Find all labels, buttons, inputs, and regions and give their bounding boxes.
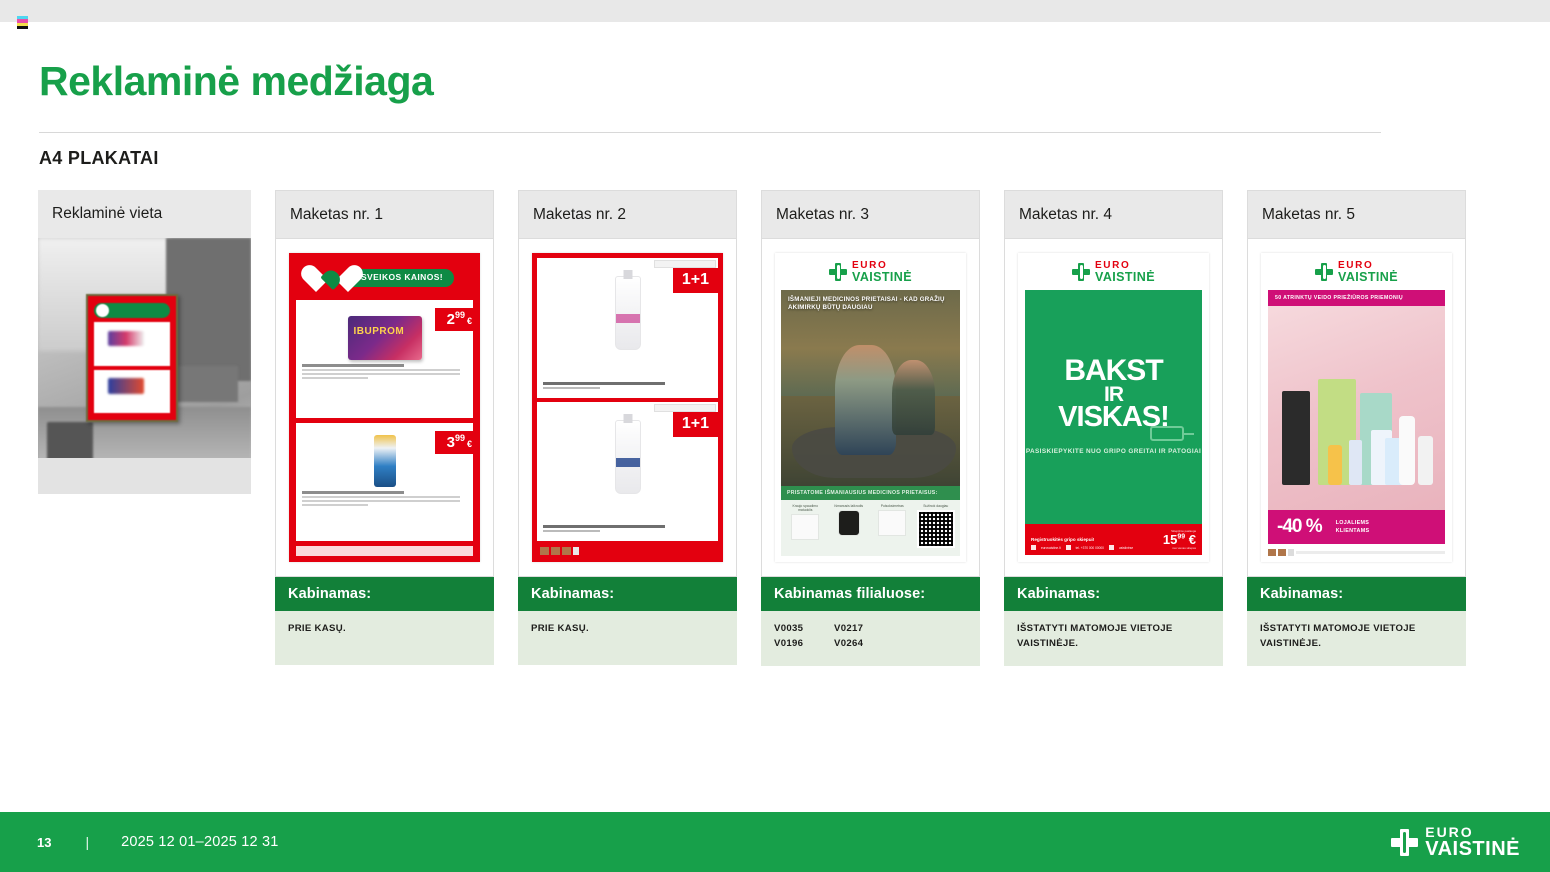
- column-maketas-5: Maketas nr. 5 EURO VAISTINĖ 50 ATRINKTŲ …: [1247, 190, 1466, 666]
- poster5-audience-line-2: KLIENTAMS: [1336, 527, 1370, 535]
- product-copy-3: [543, 382, 712, 391]
- tile-device-3: Pulsoksimetras: [872, 504, 913, 552]
- price-currency-4: €: [1189, 532, 1196, 547]
- column-maketas-1: Maketas nr. 1 SVEIKOS KAINOS! 299€: [275, 190, 494, 665]
- placement-photo: [38, 238, 251, 494]
- qr-code-icon: [917, 510, 955, 548]
- page-content: Reklaminė medžiaga A4 PLAKATAI Reklaminė…: [0, 22, 1550, 812]
- column-reklamine-vieta: Reklaminė vieta: [38, 190, 251, 494]
- tile-qr: Sužinok daugiau: [916, 504, 957, 552]
- column-maketas-4: Maketas nr. 4 EURO VAISTINĖ BAKST IR: [1004, 190, 1223, 666]
- column-header-reklamine-vieta: Reklaminė vieta: [38, 190, 251, 238]
- poster4-price: 1599 €: [1163, 533, 1196, 546]
- title-divider: [39, 132, 1381, 133]
- badge-one-plus-one-2: 1+1: [673, 412, 718, 437]
- poster-one-plus-one: 1+1 1+1: [532, 253, 723, 562]
- kabinamas-header-4: Kabinamas:: [1004, 577, 1223, 611]
- price-int-1: 2: [447, 311, 455, 328]
- section-title: A4 PLAKATAI: [39, 148, 159, 169]
- poster5-discount-bar: -40 % LOJALIEMS KLIENTAMS: [1268, 510, 1445, 544]
- euro-vaistine-logo-4: EURO VAISTINĖ: [1018, 253, 1209, 290]
- product-image-spray: [374, 435, 396, 487]
- poster-sveikos-kainos: SVEIKOS KAINOS! 299€ 399€: [289, 253, 480, 562]
- heart-icon: [315, 263, 349, 293]
- price-dec-1: 99: [455, 310, 465, 320]
- poster5-audience-line-1: LOJALIEMS: [1336, 519, 1370, 527]
- poster1-offer-2: 399€: [296, 423, 473, 541]
- kabinamas-body-3: V0035 V0217 V0196 V0264: [761, 611, 980, 666]
- cmyk-registration-bar-icon: [17, 16, 28, 29]
- posters-grid: Reklaminė vieta Maketas nr. 1 SVEI: [38, 190, 1466, 666]
- branch-code: V0217: [834, 621, 894, 636]
- contact-web: eurovaistine.lt: [1041, 546, 1061, 550]
- euro-vaistine-logo-5: EURO VAISTINĖ: [1261, 253, 1452, 290]
- poster-frame-2[interactable]: 1+1 1+1: [518, 238, 737, 577]
- kabinamas-header-2: Kabinamas:: [518, 577, 737, 611]
- column-header-maketas-2: Maketas nr. 2: [518, 190, 737, 238]
- poster-frame-5[interactable]: EURO VAISTINĖ 50 ATRINKTŲ VEIDO PRIEŽIŪR…: [1247, 238, 1466, 577]
- logo-vaistine-4: VAISTINĖ: [1095, 271, 1155, 284]
- tile-caption-3: Pulsoksimetras: [881, 504, 904, 508]
- page-footer: 13 | 2025 12 01–2025 12 31 EURO VAISTINĖ: [0, 812, 1550, 872]
- column-header-maketas-5: Maketas nr. 5: [1247, 190, 1466, 238]
- column-header-maketas-1: Maketas nr. 1: [275, 190, 494, 238]
- product-image-serum: [615, 276, 641, 350]
- store-icon: [1109, 545, 1114, 550]
- poster3-headline: IŠMANIEJI MEDICINOS PRIETAISAI - KAD GRA…: [788, 296, 950, 314]
- tile-device-1: Kraujo spaudimo matuoklis: [785, 504, 826, 552]
- price-currency-2: €: [467, 439, 472, 449]
- qr-caption: Sužinok daugiau: [923, 504, 948, 508]
- poster4-price-label: Skiepijimo paslauga: [1163, 529, 1196, 533]
- globe-icon: [1031, 545, 1036, 550]
- price-currency-1: €: [467, 316, 472, 326]
- poster-skincare-discount: EURO VAISTINĖ 50 ATRINKTŲ VEIDO PRIEŽIŪR…: [1261, 253, 1452, 562]
- column-header-maketas-3: Maketas nr. 3: [761, 190, 980, 238]
- footer-euro-vaistine-logo: EURO VAISTINĖ: [1391, 825, 1520, 859]
- placement-poster-thumbnail: [86, 294, 178, 422]
- phone-icon: [1066, 545, 1071, 550]
- branch-code-list: V0035 V0217 V0196 V0264: [774, 621, 894, 652]
- syringe-icon: [1150, 426, 1184, 441]
- logo-vaistine-3: VAISTINĖ: [852, 271, 912, 284]
- poster2-footer-strip: [537, 545, 718, 557]
- kabinamas-header-1: Kabinamas:: [275, 577, 494, 611]
- euro-vaistine-logo-3: EURO VAISTINĖ: [775, 253, 966, 290]
- poster4-price-note: nuo vienas skiepas: [1163, 546, 1196, 550]
- poster3-green-bar: PRISTATOME IŠMANIAUSIUS MEDICINOS PRIETA…: [781, 486, 960, 500]
- sveikos-kainos-badge: SVEIKOS KAINOS!: [296, 261, 473, 295]
- kabinamas-body-5: IŠSTATYTI MATOMOJE VIETOJE VAISTINĖJE.: [1247, 611, 1466, 666]
- kabinamas-header-3: Kabinamas filialuose:: [761, 577, 980, 611]
- product-copy-1: [302, 364, 467, 379]
- poster-frame-3[interactable]: EURO VAISTINĖ IŠMANIEJI MEDICINOS PRIETA…: [761, 238, 980, 577]
- price-tag-1: 299€: [435, 308, 480, 331]
- kabinamas-body-4: IŠSTATYTI MATOMOJE VIETOJE VAISTINĖJE.: [1004, 611, 1223, 666]
- pharmacy-cross-icon: [1315, 263, 1333, 281]
- footer-page-number: 13: [37, 835, 51, 850]
- product-copy-4: [543, 525, 712, 534]
- column-maketas-2: Maketas nr. 2 1+1 1+1: [518, 190, 737, 665]
- poster-frame-4[interactable]: EURO VAISTINĖ BAKST IR VISKAS! PASISKIEP…: [1004, 238, 1223, 577]
- price-ticket-2: [654, 404, 716, 412]
- price-int-2: 3: [447, 434, 455, 451]
- poster5-product-photo: [1268, 306, 1445, 511]
- branch-code: V0196: [774, 636, 834, 651]
- headline-line-1: BAKST: [1058, 357, 1169, 385]
- top-strip: [0, 0, 1550, 22]
- product-image-ibuprom: [348, 316, 422, 360]
- kabinamas-header-5: Kabinamas:: [1247, 577, 1466, 611]
- tile-device-2: Išmanusis laikrodis: [829, 504, 870, 552]
- poster-smart-devices: EURO VAISTINĖ IŠMANIEJI MEDICINOS PRIETA…: [775, 253, 966, 562]
- footer-logo-vaistine: VAISTINĖ: [1425, 839, 1520, 859]
- branch-code: V0264: [834, 636, 894, 651]
- poster4-subtitle: PASISKIEPYKITE NUO GRIPO GREITAI IR PATO…: [1026, 447, 1201, 457]
- badge-one-plus-one-1: 1+1: [673, 268, 718, 293]
- kabinamas-body-2: PRIE KASŲ.: [518, 611, 737, 665]
- price-tag-2: 399€: [435, 431, 480, 454]
- contact-phone: tel. +370 000 00000: [1076, 546, 1104, 550]
- price-int-4: 15: [1163, 532, 1177, 547]
- column-maketas-3: Maketas nr. 3 EURO VAISTINĖ IŠMANIEJI ME…: [761, 190, 980, 666]
- poster3-product-tiles: Kraujo spaudimo matuoklis Išmanusis laik…: [781, 500, 960, 556]
- poster1-offer-1: 299€: [296, 300, 473, 418]
- column-header-maketas-4: Maketas nr. 4: [1004, 190, 1223, 238]
- footer-separator: |: [85, 834, 89, 850]
- logo-vaistine-5: VAISTINĖ: [1338, 271, 1398, 284]
- footer-date-range: 2025 12 01–2025 12 31: [121, 834, 278, 850]
- product-image-cream: [615, 420, 641, 494]
- pharmacy-cross-icon: [1391, 829, 1418, 856]
- product-copy-2: [302, 491, 467, 506]
- poster5-top-banner: 50 ATRINKTŲ VEIDO PRIEŽIŪROS PRIEMONIŲ: [1268, 290, 1445, 306]
- poster4-green-panel: BAKST IR VISKAS! PASISKIEPYKITE NUO GRIP…: [1025, 290, 1202, 525]
- poster4-red-footer: Registruokitės gripo skiepui! eurovaisti…: [1025, 524, 1202, 555]
- tile-caption-1: Kraujo spaudimo matuoklis: [785, 504, 826, 512]
- branch-code: V0035: [774, 621, 834, 636]
- kabinamas-body-1: PRIE KASŲ.: [275, 611, 494, 665]
- page-title: Reklaminė medžiaga: [39, 58, 433, 105]
- poster5-footer-strip: [1268, 548, 1445, 556]
- hero-photo-canoe: IŠMANIEJI MEDICINOS PRIETAISAI - KAD GRA…: [781, 290, 960, 487]
- price-ticket-1: [654, 260, 716, 268]
- poster-flu-vaccination: EURO VAISTINĖ BAKST IR VISKAS! PASISKIEP…: [1018, 253, 1209, 562]
- price-dec-2: 99: [455, 433, 465, 443]
- poster5-discount-value: -40 %: [1277, 516, 1322, 538]
- pharmacy-cross-icon: [1072, 263, 1090, 281]
- poster4-footer-text: Registruokitės gripo skiepui!: [1031, 537, 1133, 542]
- tile-caption-2: Išmanusis laikrodis: [834, 504, 863, 508]
- price-dec-4: 99: [1177, 534, 1185, 541]
- poster4-headline: BAKST IR VISKAS!: [1058, 357, 1169, 431]
- pharmacy-cross-icon: [829, 263, 847, 281]
- contact-store: vaistinėse: [1119, 546, 1133, 550]
- footer-logo-euro: EURO: [1425, 825, 1520, 839]
- poster2-offer-2: 1+1: [537, 402, 718, 542]
- poster-frame-1[interactable]: SVEIKOS KAINOS! 299€ 399€: [275, 238, 494, 577]
- poster2-offer-1: 1+1: [537, 258, 718, 398]
- poster1-footer-bar: [296, 546, 473, 556]
